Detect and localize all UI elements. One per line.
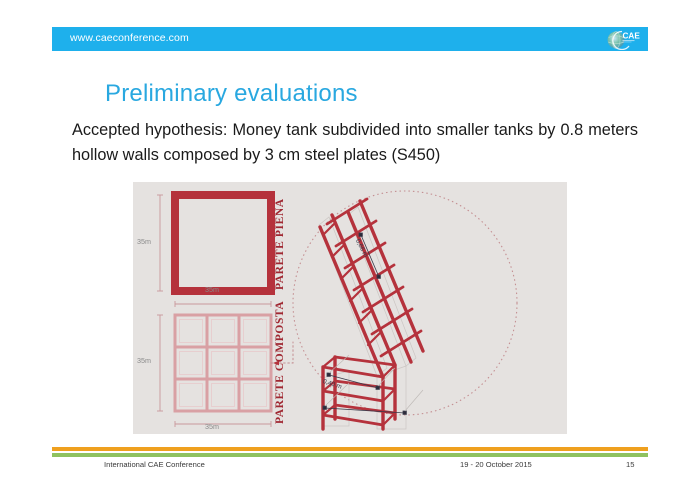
footer-date: 19 - 20 October 2015 — [460, 460, 532, 469]
cae-globe-logo: CAE — [602, 28, 642, 50]
header-url-text: www.caeconference.com — [70, 32, 189, 44]
figure-panel: PARETE PIENA PARETE COMPOSTA 35m 35m 35m… — [133, 182, 567, 434]
figure-graphic — [133, 182, 567, 434]
label-parete-piena: PARETE PIENA — [274, 198, 286, 290]
dim-composite-wall-width: 35m — [205, 422, 219, 431]
dim-solid-wall-height: 35m — [137, 237, 151, 246]
footer-conference-name: International CAE Conference — [104, 460, 205, 469]
slide-title: Preliminary evaluations — [105, 80, 358, 108]
svg-text:CAE: CAE — [623, 32, 641, 41]
dim-solid-wall-width: 35m — [205, 285, 219, 294]
header-bar: www.caeconference.com CAE — [52, 27, 648, 51]
slide-canvas: www.caeconference.com CAE — [0, 0, 700, 492]
label-parete-composta: PARETE COMPOSTA — [274, 301, 286, 424]
slide-body-text: Accepted hypothesis: Money tank subdivid… — [72, 118, 638, 168]
footer-rule-orange — [52, 447, 648, 451]
dim-composite-wall-height: 35m — [137, 356, 151, 365]
footer-page-number: 15 — [626, 460, 634, 469]
wall-3d-detail — [319, 199, 423, 429]
footer-rule-green — [52, 453, 648, 457]
composite-wall-drawing — [157, 315, 271, 427]
